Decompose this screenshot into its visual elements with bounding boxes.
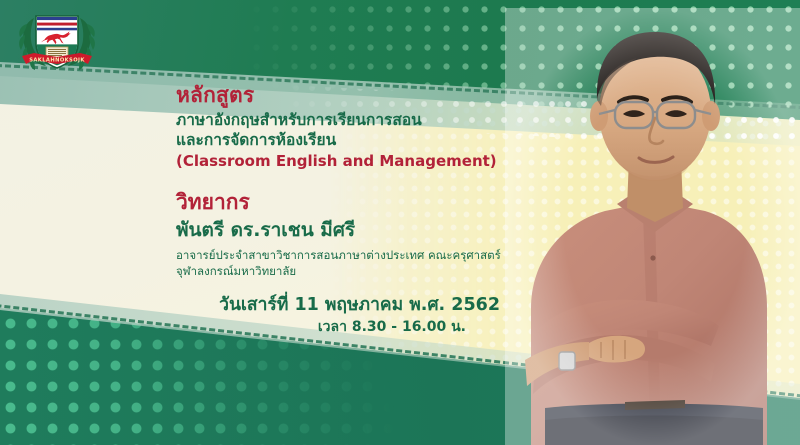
event-date: วันเสาร์ที่ 11 พฤษภาคม พ.ศ. 2562 — [176, 294, 500, 317]
crest-logo-icon: SAKLAHNOKSOJK — [14, 4, 100, 76]
course-title-english: (Classroom English and Management) — [176, 151, 506, 172]
speaker-portrait-photo — [505, 8, 800, 445]
speaker-affiliation-line-1: อาจารย์ประจำสาขาวิชาการสอนภาษาต่างประเทศ… — [176, 247, 506, 263]
speaker-affiliation-line-2: จุฬาลงกรณ์มหาวิทยาลัย — [176, 263, 506, 279]
poster-text-content: หลักสูตร ภาษาอังกฤษสำหรับการเรียนการสอน … — [176, 82, 506, 337]
seminar-poster: SAKLAHNOKSOJK — [0, 0, 800, 445]
course-title-line-1: ภาษาอังกฤษสำหรับการเรียนการสอน — [176, 110, 506, 130]
speaker-name: พันตรี ดร.ราเชน มีศรี — [176, 218, 506, 242]
course-title-line-2: และการจัดการห้องเรียน — [176, 130, 506, 150]
event-time: เวลา 8.30 - 16.00 น. — [176, 317, 466, 337]
course-label: หลักสูตร — [176, 82, 506, 108]
speaker-label: วิทยากร — [176, 189, 506, 215]
schedule-block: วันเสาร์ที่ 11 พฤษภาคม พ.ศ. 2562 เวลา 8.… — [176, 294, 506, 337]
svg-text:SAKLAHNOKSOJK: SAKLAHNOKSOJK — [29, 58, 85, 64]
